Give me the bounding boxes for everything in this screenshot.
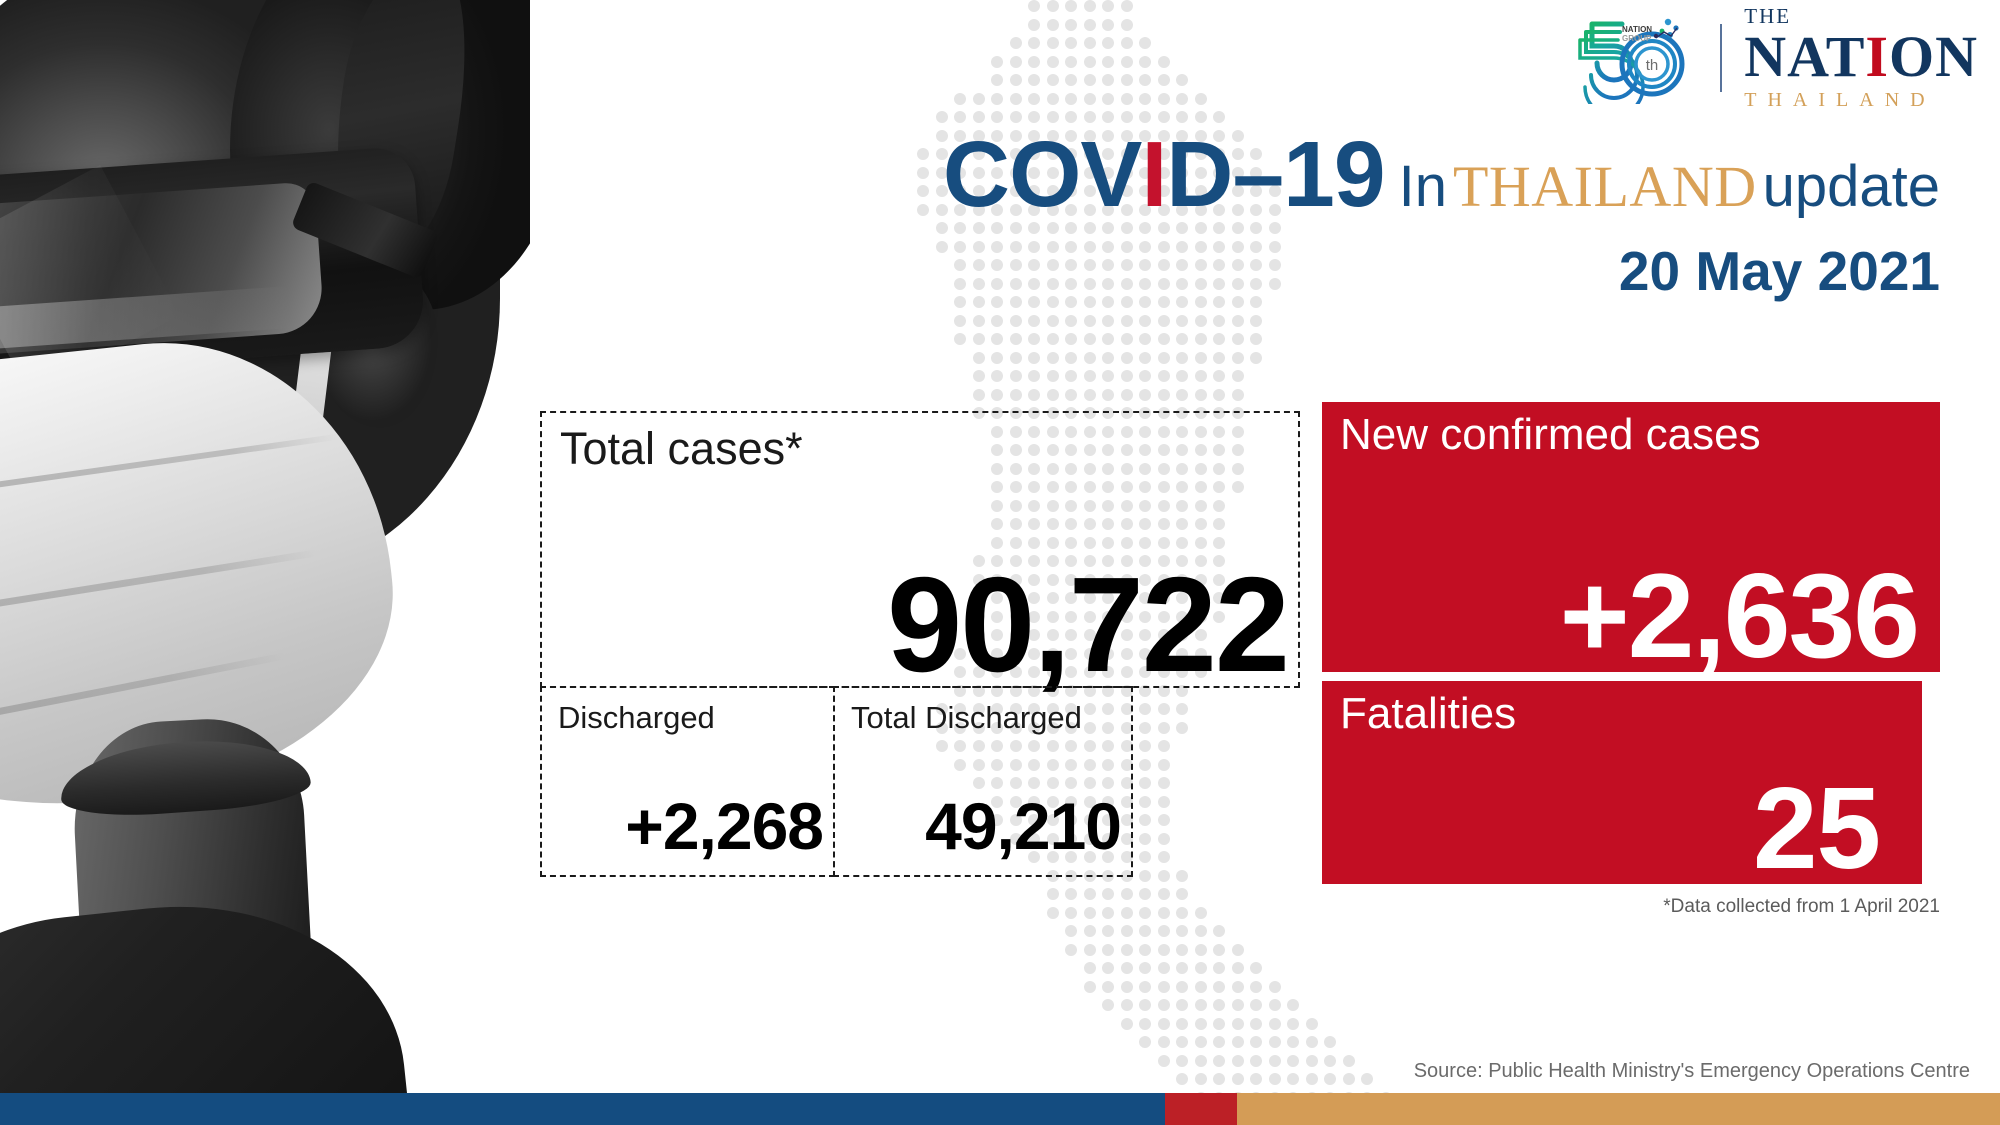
map-dot (1084, 981, 1096, 993)
map-dot (1121, 370, 1133, 382)
map-dot (1343, 1055, 1355, 1067)
map-dot (1232, 1018, 1244, 1030)
map-dot (1084, 352, 1096, 364)
map-dot (1047, 37, 1059, 49)
map-dot (1065, 888, 1077, 900)
map-dot (1324, 1055, 1336, 1067)
map-dot (1047, 389, 1059, 401)
fatalities-value: 25 (1753, 770, 1880, 886)
total-cases-value: 90,722 (887, 557, 1288, 692)
title-update-word: update (1763, 154, 1940, 219)
map-dot (1139, 389, 1151, 401)
map-dot (991, 333, 1003, 345)
map-dot (1047, 93, 1059, 105)
map-dot (1287, 1036, 1299, 1048)
map-dot (1047, 352, 1059, 364)
map-dot (991, 389, 1003, 401)
map-dot (1158, 56, 1170, 68)
discharged-box: Discharged +2,268 (540, 686, 835, 877)
map-dot (973, 352, 985, 364)
map-dot (1102, 962, 1114, 974)
bottom-color-bar (0, 1093, 2000, 1125)
map-dot (1065, 907, 1077, 919)
map-dot (1176, 370, 1188, 382)
map-dot (1047, 19, 1059, 31)
map-dot (1102, 0, 1114, 12)
map-dot (1176, 981, 1188, 993)
map-dot (1176, 74, 1188, 86)
svg-text:NATION: NATION (1622, 25, 1652, 34)
map-dot (1047, 74, 1059, 86)
map-dot (1158, 370, 1170, 382)
map-dot (1121, 1018, 1133, 1030)
map-dot (1232, 1036, 1244, 1048)
map-dot (1121, 981, 1133, 993)
fiftieth-anniversary-icon: th NATION GROUP (1556, 12, 1706, 104)
map-dot (1195, 352, 1207, 364)
map-dot (1269, 1018, 1281, 1030)
bottom-bar-gold-segment (1237, 1093, 2000, 1125)
map-dot (1213, 1036, 1225, 1048)
map-dot (1195, 907, 1207, 919)
map-dot (1047, 370, 1059, 382)
map-dot (1121, 315, 1133, 327)
map-dot (1324, 1036, 1336, 1048)
map-dot (1121, 0, 1133, 12)
map-dot (1102, 19, 1114, 31)
map-dot (1158, 981, 1170, 993)
map-dot (1028, 333, 1040, 345)
map-dot (1028, 93, 1040, 105)
map-dot (1065, 370, 1077, 382)
map-dot (1324, 1073, 1336, 1085)
map-dot (1084, 37, 1096, 49)
left-stats-group: Total cases* 90,722 Discharged +2,268 To… (540, 411, 1300, 877)
map-dot (954, 333, 966, 345)
map-dot (1158, 1036, 1170, 1048)
map-dot (1028, 37, 1040, 49)
map-dot (1084, 907, 1096, 919)
map-dot (1047, 888, 1059, 900)
map-dot (1084, 19, 1096, 31)
map-dot (1028, 0, 1040, 12)
map-dot (1010, 56, 1022, 68)
map-dot (1176, 944, 1188, 956)
map-dot (1028, 56, 1040, 68)
map-dot (1176, 907, 1188, 919)
map-dot (1158, 93, 1170, 105)
logo-nation-part-2: ON (1889, 24, 1978, 89)
map-dot (1121, 999, 1133, 1011)
map-dot (1139, 907, 1151, 919)
map-dot (1213, 1055, 1225, 1067)
total-cases-label: Total cases* (560, 423, 803, 475)
map-dot (1213, 315, 1225, 327)
map-dot (1213, 1018, 1225, 1030)
map-dot (1195, 981, 1207, 993)
map-dot (1010, 370, 1022, 382)
map-dot (1102, 944, 1114, 956)
map-dot (1176, 1018, 1188, 1030)
map-dot (1121, 962, 1133, 974)
map-dot (1250, 1055, 1262, 1067)
map-dot (1139, 333, 1151, 345)
map-dot (1306, 1055, 1318, 1067)
map-dot (1102, 315, 1114, 327)
bottom-bar-navy-segment (0, 1093, 1165, 1125)
map-dot (1287, 1018, 1299, 1030)
map-dot (1139, 999, 1151, 1011)
map-dot (1139, 74, 1151, 86)
map-dot (1028, 352, 1040, 364)
source-footnote: Source: Public Health Ministry's Emergen… (1414, 1060, 1970, 1083)
map-dot (1065, 925, 1077, 937)
map-dot (1195, 389, 1207, 401)
map-dot (973, 93, 985, 105)
map-dot (1176, 315, 1188, 327)
map-dot (1158, 352, 1170, 364)
map-dot (1361, 1073, 1373, 1085)
map-dot (1010, 315, 1022, 327)
map-dot (1139, 944, 1151, 956)
map-dot (1065, 74, 1077, 86)
map-dot (1102, 925, 1114, 937)
map-dot (1158, 944, 1170, 956)
map-dot (973, 333, 985, 345)
report-date: 20 May 2021 (700, 239, 1940, 303)
discharged-value: +2,268 (625, 793, 823, 859)
map-dot (1176, 925, 1188, 937)
map-dot (1065, 352, 1077, 364)
map-dot (1084, 93, 1096, 105)
headline-block: COVID–19InTHAILANDupdate 20 May 2021 (700, 128, 1940, 303)
map-dot (1232, 389, 1244, 401)
map-dot (1213, 352, 1225, 364)
map-dot (1047, 0, 1059, 12)
title-thailand-word: THAILAND (1453, 154, 1757, 219)
map-dot (1084, 370, 1096, 382)
map-dot (1121, 56, 1133, 68)
map-dot (1010, 352, 1022, 364)
map-dot (1047, 56, 1059, 68)
map-dot (1065, 19, 1077, 31)
map-dot (991, 352, 1003, 364)
map-dot (1047, 315, 1059, 327)
map-dot (1139, 352, 1151, 364)
map-dot (1269, 1036, 1281, 1048)
title-covid-part-1: COV (943, 122, 1142, 226)
map-dot (1065, 315, 1077, 327)
map-dot (1028, 389, 1040, 401)
map-dot (1213, 981, 1225, 993)
svg-text:th: th (1646, 57, 1659, 74)
map-dot (1158, 999, 1170, 1011)
map-dot (1176, 389, 1188, 401)
map-dot (1306, 1018, 1318, 1030)
map-dot (1010, 389, 1022, 401)
map-dot (973, 389, 985, 401)
map-dot (1250, 333, 1262, 345)
map-dot (973, 315, 985, 327)
map-dot (1121, 93, 1133, 105)
map-dot (1065, 0, 1077, 12)
map-dot (1139, 370, 1151, 382)
map-dot (1084, 56, 1096, 68)
map-dot (1195, 925, 1207, 937)
map-dot (1010, 93, 1022, 105)
map-dot (1195, 93, 1207, 105)
title-in-word: In (1399, 154, 1447, 219)
map-dot (1269, 1073, 1281, 1085)
map-dot (1158, 925, 1170, 937)
map-dot (973, 370, 985, 382)
map-dot (1213, 962, 1225, 974)
map-dot (1010, 333, 1022, 345)
map-dot (1250, 1073, 1262, 1085)
map-dot (1176, 1036, 1188, 1048)
map-dot (1269, 999, 1281, 1011)
map-dot (1213, 333, 1225, 345)
map-dot (991, 93, 1003, 105)
map-dot (1213, 389, 1225, 401)
map-dot (1102, 37, 1114, 49)
map-dot (1084, 888, 1096, 900)
map-dot (1102, 981, 1114, 993)
map-dot (1176, 1055, 1188, 1067)
map-dot (1065, 389, 1077, 401)
map-dot (1250, 315, 1262, 327)
map-dot (1195, 944, 1207, 956)
map-dot (1269, 1055, 1281, 1067)
map-dot (1195, 333, 1207, 345)
map-dot (1121, 74, 1133, 86)
map-dot (1102, 999, 1114, 1011)
map-dot (991, 56, 1003, 68)
title-covid-red-letter: I (1141, 122, 1166, 226)
map-dot (1028, 74, 1040, 86)
map-dot (1158, 962, 1170, 974)
map-dot (1343, 1073, 1355, 1085)
map-dot (1084, 944, 1096, 956)
map-dot (1176, 999, 1188, 1011)
map-dot (1213, 925, 1225, 937)
map-dot (1195, 1073, 1207, 1085)
map-dot (1065, 93, 1077, 105)
map-dot (1139, 315, 1151, 327)
map-dot (1176, 93, 1188, 105)
total-discharged-value: 49,210 (925, 793, 1121, 859)
map-dot (1306, 1073, 1318, 1085)
map-dot (1232, 981, 1244, 993)
map-dot (1250, 962, 1262, 974)
map-dot (1213, 944, 1225, 956)
map-dot (1121, 389, 1133, 401)
map-dot (1250, 981, 1262, 993)
map-dot (1195, 315, 1207, 327)
map-dot (1102, 333, 1114, 345)
map-dot (1232, 999, 1244, 1011)
map-dot (1195, 999, 1207, 1011)
logo-divider (1720, 24, 1722, 92)
map-dot (1102, 352, 1114, 364)
map-dot (1139, 981, 1151, 993)
total-discharged-box: Total Discharged 49,210 (833, 686, 1133, 877)
map-dot (1121, 352, 1133, 364)
map-dot (1232, 370, 1244, 382)
map-dot (1176, 333, 1188, 345)
logo-thailand-text: THAILAND (1744, 90, 1935, 110)
photo-shoulder (0, 884, 412, 1095)
map-dot (1121, 944, 1133, 956)
portrait-photo-masked-person (0, 0, 530, 1095)
map-dot (1176, 352, 1188, 364)
title-covid-part-2: D–19 (1166, 122, 1384, 226)
map-dot (1028, 315, 1040, 327)
nation-wordmark: THE NATION THAILAND (1744, 6, 1978, 110)
map-dot (1139, 1018, 1151, 1030)
map-dot (1158, 1055, 1170, 1067)
map-dot (1158, 74, 1170, 86)
map-dot (1065, 37, 1077, 49)
map-dot (1084, 315, 1096, 327)
map-dot (1139, 962, 1151, 974)
bottom-bar-red-segment (1165, 1093, 1237, 1125)
map-dot (1065, 333, 1077, 345)
map-dot (1232, 333, 1244, 345)
map-dot (1102, 93, 1114, 105)
map-dot (1195, 370, 1207, 382)
map-dot (1102, 56, 1114, 68)
map-dot (1176, 888, 1188, 900)
map-dot (1102, 370, 1114, 382)
map-dot (1047, 907, 1059, 919)
map-dot (1232, 962, 1244, 974)
map-dot (1139, 56, 1151, 68)
map-dot (1232, 944, 1244, 956)
map-dot (1121, 888, 1133, 900)
map-dot (1250, 1036, 1262, 1048)
map-dot (1232, 315, 1244, 327)
map-dot (1028, 19, 1040, 31)
map-dot (954, 315, 966, 327)
map-dot (991, 370, 1003, 382)
map-dot (1158, 1018, 1170, 1030)
map-dot (1213, 370, 1225, 382)
map-dot (991, 315, 1003, 327)
map-dot (1084, 333, 1096, 345)
map-dot (1065, 944, 1077, 956)
map-dot (1084, 0, 1096, 12)
map-dot (1102, 74, 1114, 86)
map-dot (1306, 1036, 1318, 1048)
map-dot (1139, 37, 1151, 49)
map-dot (1195, 962, 1207, 974)
map-dot (1102, 888, 1114, 900)
map-dot (1158, 315, 1170, 327)
map-dot (1158, 389, 1170, 401)
title-covid: COVID–19 (943, 122, 1385, 226)
map-dot (1158, 333, 1170, 345)
map-dot (1010, 74, 1022, 86)
map-dot (1232, 1055, 1244, 1067)
map-dot (1102, 907, 1114, 919)
headline-title-row: COVID–19InTHAILANDupdate (700, 128, 1940, 221)
map-dot (1139, 93, 1151, 105)
map-dot (1139, 1036, 1151, 1048)
map-dot (1213, 999, 1225, 1011)
total-discharged-label: Total Discharged (851, 700, 1082, 736)
map-dot (1139, 888, 1151, 900)
map-dot (1287, 999, 1299, 1011)
total-cases-box: Total cases* 90,722 (540, 411, 1300, 688)
map-dot (1176, 962, 1188, 974)
map-dot (1121, 925, 1133, 937)
map-dot (954, 93, 966, 105)
map-dot (1250, 999, 1262, 1011)
map-dot (1232, 1073, 1244, 1085)
logo-nation-red-letter: I (1865, 24, 1889, 89)
map-dot (1065, 56, 1077, 68)
fatalities-label: Fatalities (1340, 689, 1516, 739)
map-dot (1195, 1018, 1207, 1030)
map-dot (1139, 925, 1151, 937)
map-dot (1084, 74, 1096, 86)
map-dot (1158, 888, 1170, 900)
map-dot (1250, 1018, 1262, 1030)
map-dot (1176, 1073, 1188, 1085)
map-dot (1287, 1055, 1299, 1067)
nation-thailand-logo: th NATION GROUP THE NATION THAILAND (1556, 8, 1978, 108)
map-dot (1121, 19, 1133, 31)
new-confirmed-cases-value: +2,636 (1560, 556, 1918, 676)
svg-text:GROUP: GROUP (1622, 34, 1652, 43)
map-dot (991, 74, 1003, 86)
map-dot (1121, 907, 1133, 919)
map-dot (1121, 37, 1133, 49)
map-dot (1084, 389, 1096, 401)
new-confirmed-cases-label: New confirmed cases (1340, 410, 1761, 460)
map-dot (1047, 333, 1059, 345)
map-dot (1287, 1073, 1299, 1085)
discharged-label: Discharged (558, 700, 715, 736)
map-dot (1121, 333, 1133, 345)
map-dot (1158, 907, 1170, 919)
map-dot (1250, 352, 1262, 364)
map-dot (1232, 352, 1244, 364)
map-dot (1084, 925, 1096, 937)
map-dot (1084, 962, 1096, 974)
map-dot (1102, 389, 1114, 401)
fatalities-panel: Fatalities 25 (1322, 681, 1922, 884)
map-dot (1195, 1055, 1207, 1067)
map-dot (1195, 1036, 1207, 1048)
infographic-page: th NATION GROUP THE NATION THAILAND COVI… (0, 0, 2000, 1125)
map-dot (1010, 37, 1022, 49)
map-dot (1213, 1073, 1225, 1085)
map-dot (1269, 981, 1281, 993)
new-confirmed-cases-panel: New confirmed cases +2,636 (1322, 402, 1940, 672)
logo-nation-part-1: NAT (1744, 24, 1865, 89)
logo-nation-text: NATION (1744, 29, 1978, 85)
data-collection-footnote: *Data collected from 1 April 2021 (1663, 896, 1940, 918)
map-dot (1028, 370, 1040, 382)
